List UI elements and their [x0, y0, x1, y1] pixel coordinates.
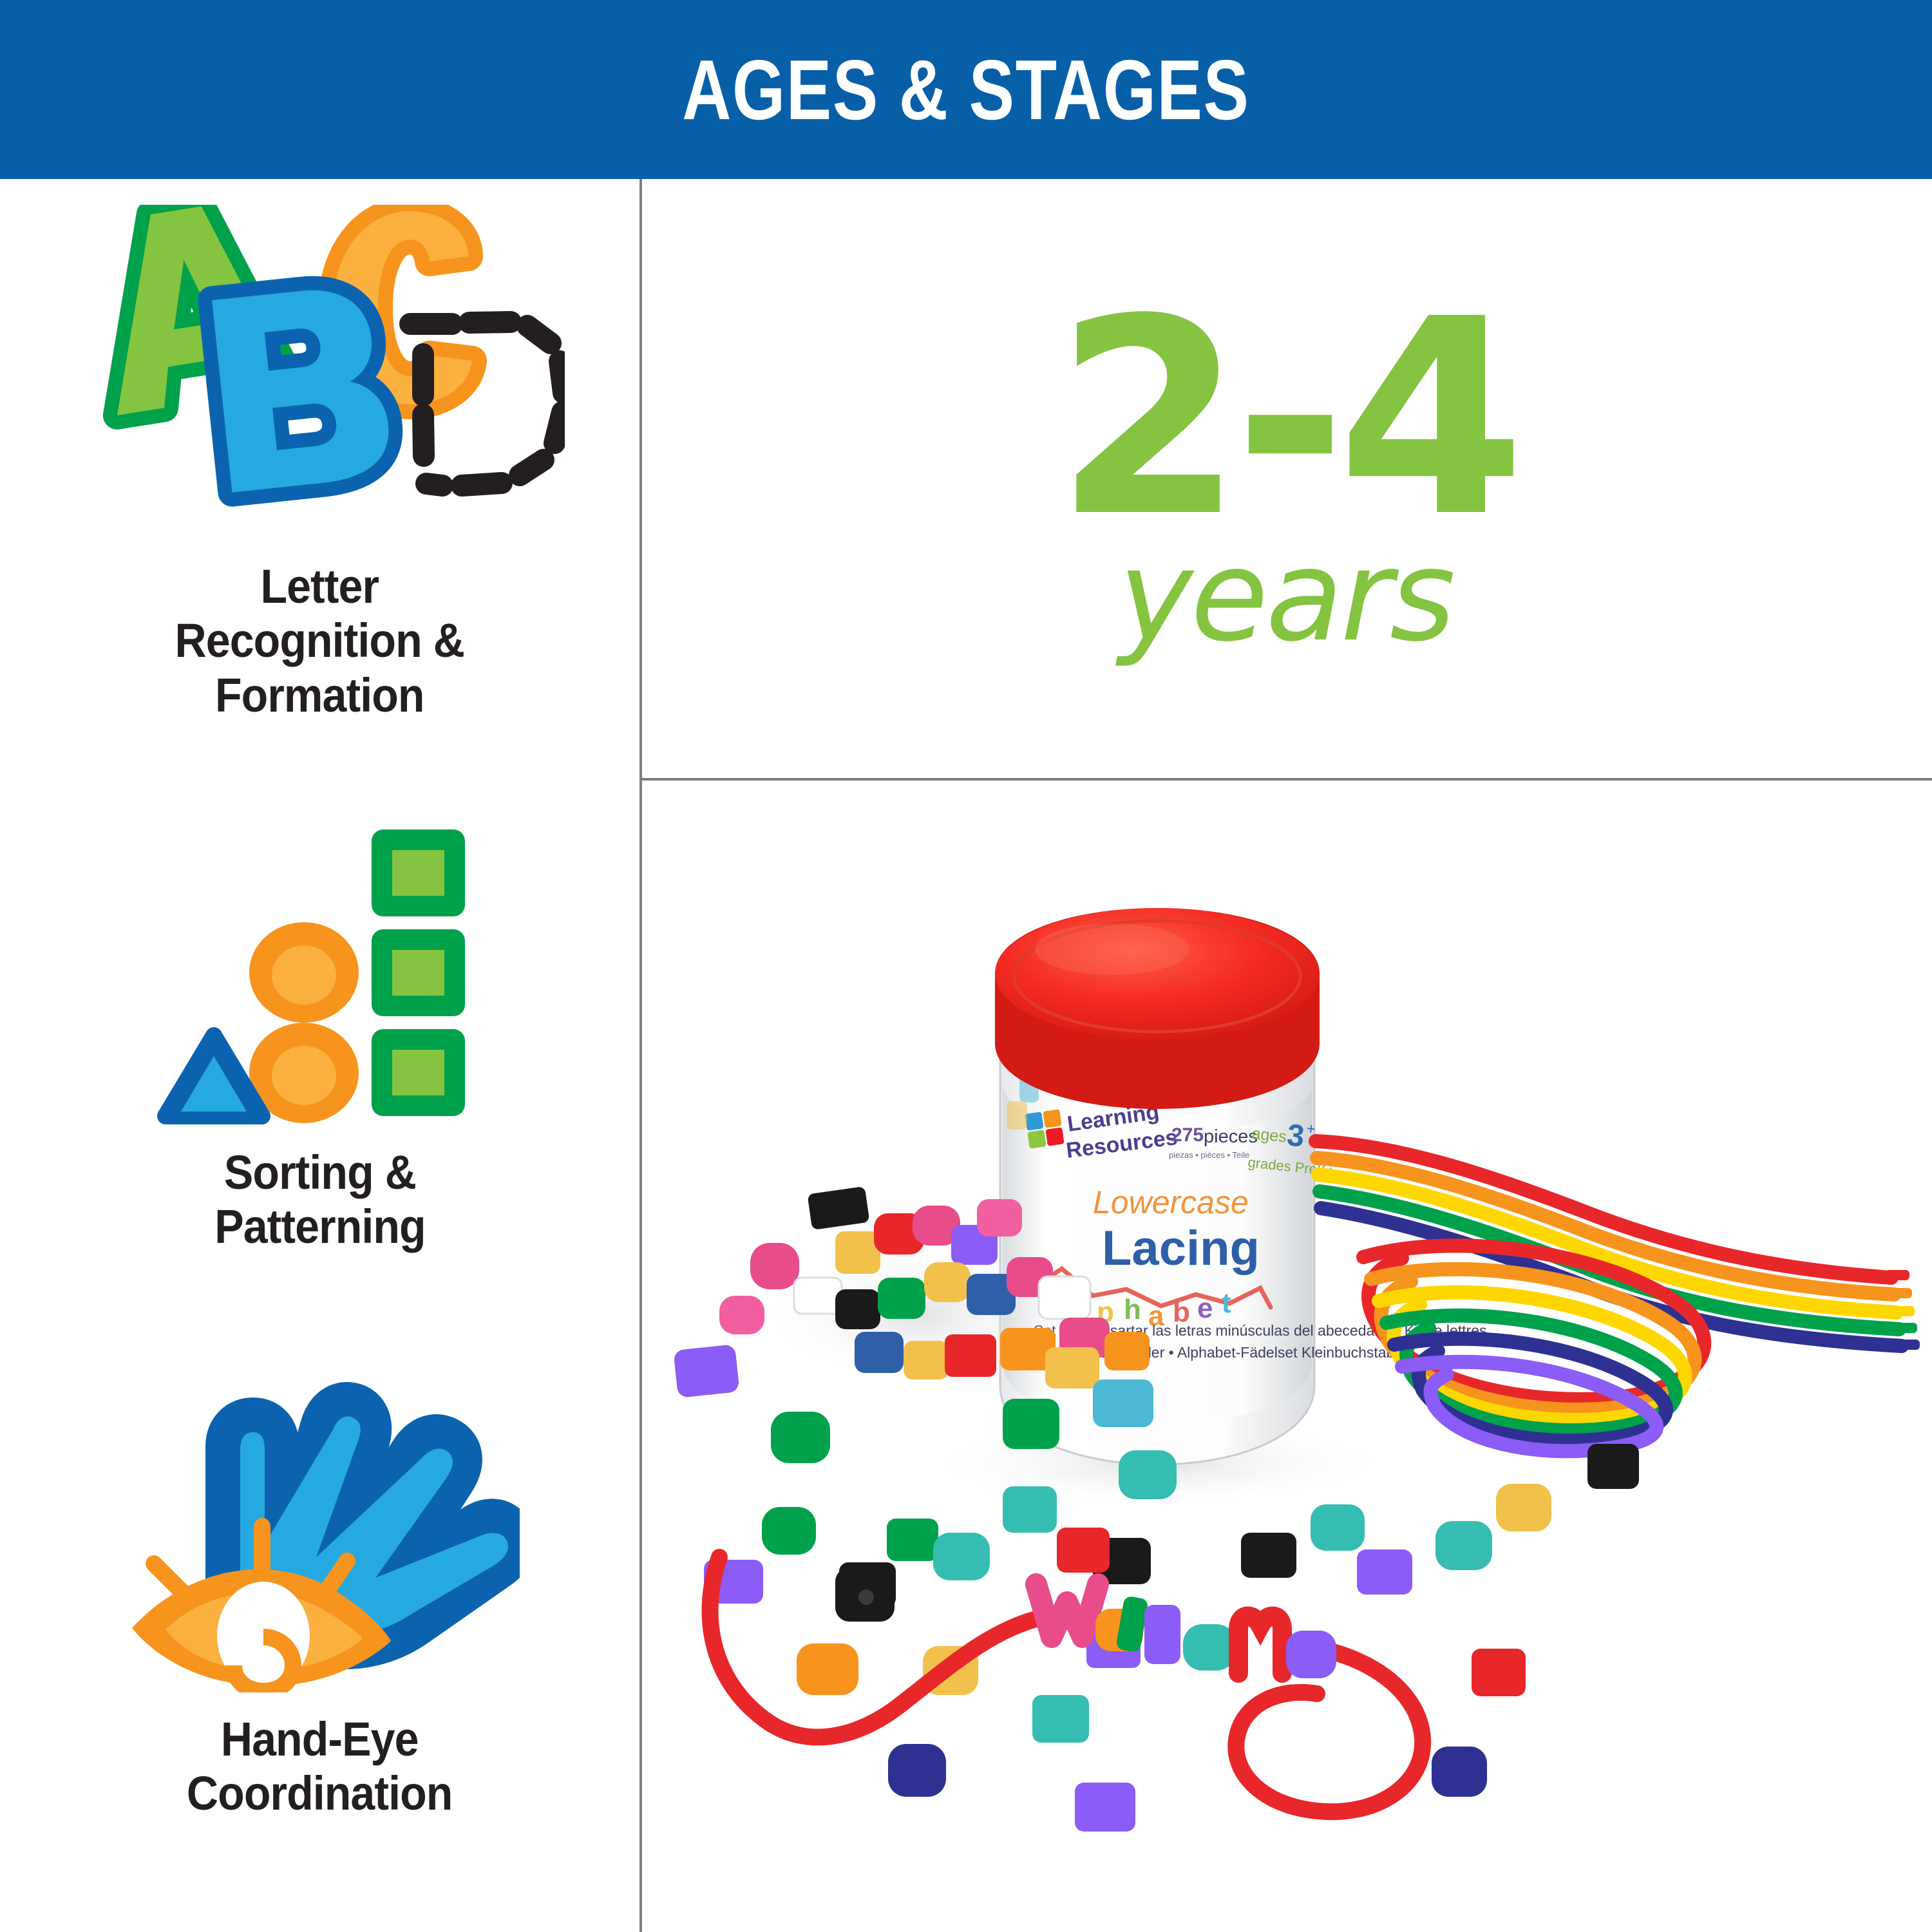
- jar-lid: [995, 908, 1320, 1109]
- age-range-value: 2-4: [1055, 298, 1517, 541]
- benefit-letter-recognition: Letter Recognition & Formation: [0, 205, 639, 723]
- sorting-shapes-icon: [153, 823, 488, 1129]
- benefit-hand-eye-coordination: Hand-Eye Coordination: [0, 1370, 639, 1821]
- product-title-lacing: Lacing: [1102, 1221, 1260, 1276]
- product-photo: Learning Resources 275 pieces piezas • p…: [642, 781, 1932, 1932]
- abc-letters-icon: [75, 205, 565, 543]
- triangle-group: [166, 1036, 262, 1116]
- product-title-lowercase: Lowercase: [1093, 1184, 1249, 1220]
- benefit-label: Hand-Eye Coordination: [187, 1712, 453, 1821]
- svg-text:h: h: [1124, 1294, 1141, 1325]
- welcome-beads: [1036, 1584, 1336, 1678]
- content-area: Letter Recognition & Formation: [0, 179, 1932, 1932]
- header-banner: AGES & STAGES: [0, 0, 1932, 179]
- benefit-sorting-patterning: Sorting & Patterning: [0, 823, 639, 1255]
- page-title: AGES & STAGES: [682, 41, 1249, 138]
- svg-text:t: t: [1222, 1287, 1231, 1319]
- svg-text:e: e: [1197, 1293, 1213, 1324]
- benefit-label: Sorting & Patterning: [214, 1146, 425, 1255]
- svg-text:3: 3: [1285, 1118, 1306, 1154]
- square-group: [372, 829, 465, 1116]
- svg-text:pieces: pieces: [1204, 1126, 1258, 1147]
- age-unit-label: years: [1119, 533, 1453, 659]
- hand-eye-icon: [120, 1370, 520, 1696]
- svg-text:piezas • pièces • Teile: piezas • pièces • Teile: [1169, 1150, 1249, 1160]
- piece-count: 275: [1171, 1124, 1204, 1146]
- benefit-label: Letter Recognition & Formation: [175, 560, 464, 723]
- age-range-panel: 2-4 years: [639, 179, 1932, 778]
- rainbow-laces: [1316, 1141, 1920, 1451]
- ages-label: ages: [1251, 1124, 1287, 1146]
- circle-group: [249, 922, 359, 1123]
- benefits-column: Letter Recognition & Formation: [0, 179, 639, 1932]
